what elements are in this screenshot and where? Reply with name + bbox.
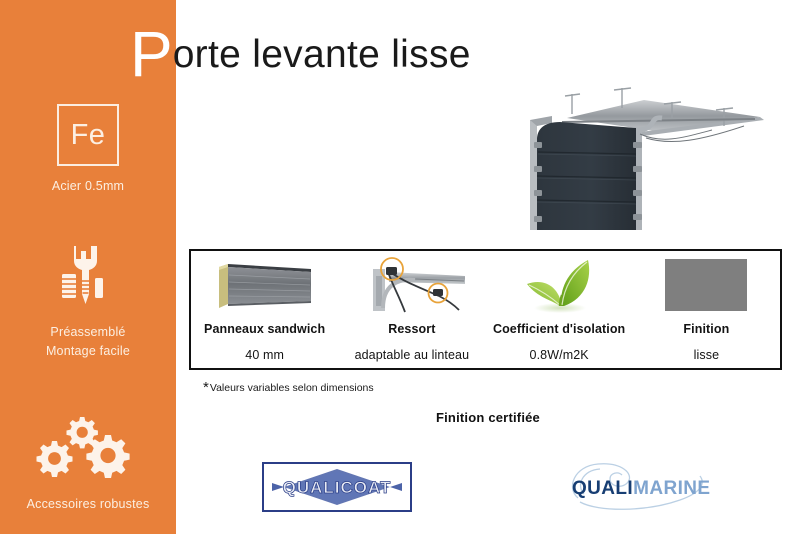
product-sheet-page: Fe Acier 0.5mm xyxy=(0,0,800,534)
feature-title: Ressort xyxy=(388,322,435,336)
feature-coefficient-isolation: Coefficient d'isolation 0.8W/m2K xyxy=(486,251,633,368)
qualimarine-logo: QUALIMARINE xyxy=(560,458,720,514)
feature-ressort: Ressort adaptable au linteau xyxy=(338,251,485,368)
fe-symbol-text: Fe xyxy=(71,121,106,150)
page-title-initial: P xyxy=(130,18,173,90)
page-title-rest: orte levante lisse xyxy=(173,33,471,76)
page-title: Porte levante lisse xyxy=(130,22,471,86)
feature-value: adaptable au linteau xyxy=(355,348,470,362)
sidebar-item-montage-label: Montage facile xyxy=(0,342,176,361)
green-leaf-icon xyxy=(516,255,602,315)
feature-title: Panneaux sandwich xyxy=(204,322,325,336)
qualimarine-part-a: QUALI xyxy=(572,478,633,499)
fe-square-icon: Fe xyxy=(57,104,119,166)
sidebar-item-acier: Fe Acier 0.5mm xyxy=(0,104,176,196)
features-table: Panneaux sandwich 40 mm xyxy=(189,249,782,370)
feature-value: 40 mm xyxy=(245,348,284,362)
sidebar-item-accessoires: Accessoires robustes xyxy=(0,414,176,514)
wrench-screw-icon xyxy=(0,244,176,311)
feature-value: lisse xyxy=(694,348,720,362)
qualimarine-wordmark: QUALIMARINE xyxy=(572,478,710,500)
footnote-text: Valeurs variables selon dimensions xyxy=(210,382,374,394)
grey-swatch xyxy=(665,259,747,311)
footnote-star: * xyxy=(203,379,209,396)
qualicoat-wordmark: QUALICOAT xyxy=(283,478,392,497)
spring-mechanism-image xyxy=(353,255,471,315)
sidebar-item-preassemble: Préassemblé Montage facile xyxy=(0,244,176,361)
sectional-garage-door-photo xyxy=(512,86,800,236)
certification-heading: Finition certifiée xyxy=(0,410,800,425)
sidebar-item-accessoires-label: Accessoires robustes xyxy=(0,495,176,514)
feature-finition: Finition lisse xyxy=(633,251,780,368)
feature-title: Finition xyxy=(683,322,729,336)
sandwich-panel-image xyxy=(211,255,319,315)
qualicoat-logo: QUALICOAT xyxy=(262,462,412,512)
qualimarine-part-b: MARINE xyxy=(633,478,710,499)
finish-colour-swatch xyxy=(665,255,747,315)
footnote: *Valeurs variables selon dimensions xyxy=(203,379,374,396)
sidebar-item-acier-label: Acier 0.5mm xyxy=(0,177,176,196)
feature-title: Coefficient d'isolation xyxy=(493,322,625,336)
feature-value: 0.8W/m2K xyxy=(530,348,589,362)
feature-panneaux-sandwich: Panneaux sandwich 40 mm xyxy=(191,251,338,368)
sidebar-item-preassemble-label: Préassemblé xyxy=(0,323,176,342)
